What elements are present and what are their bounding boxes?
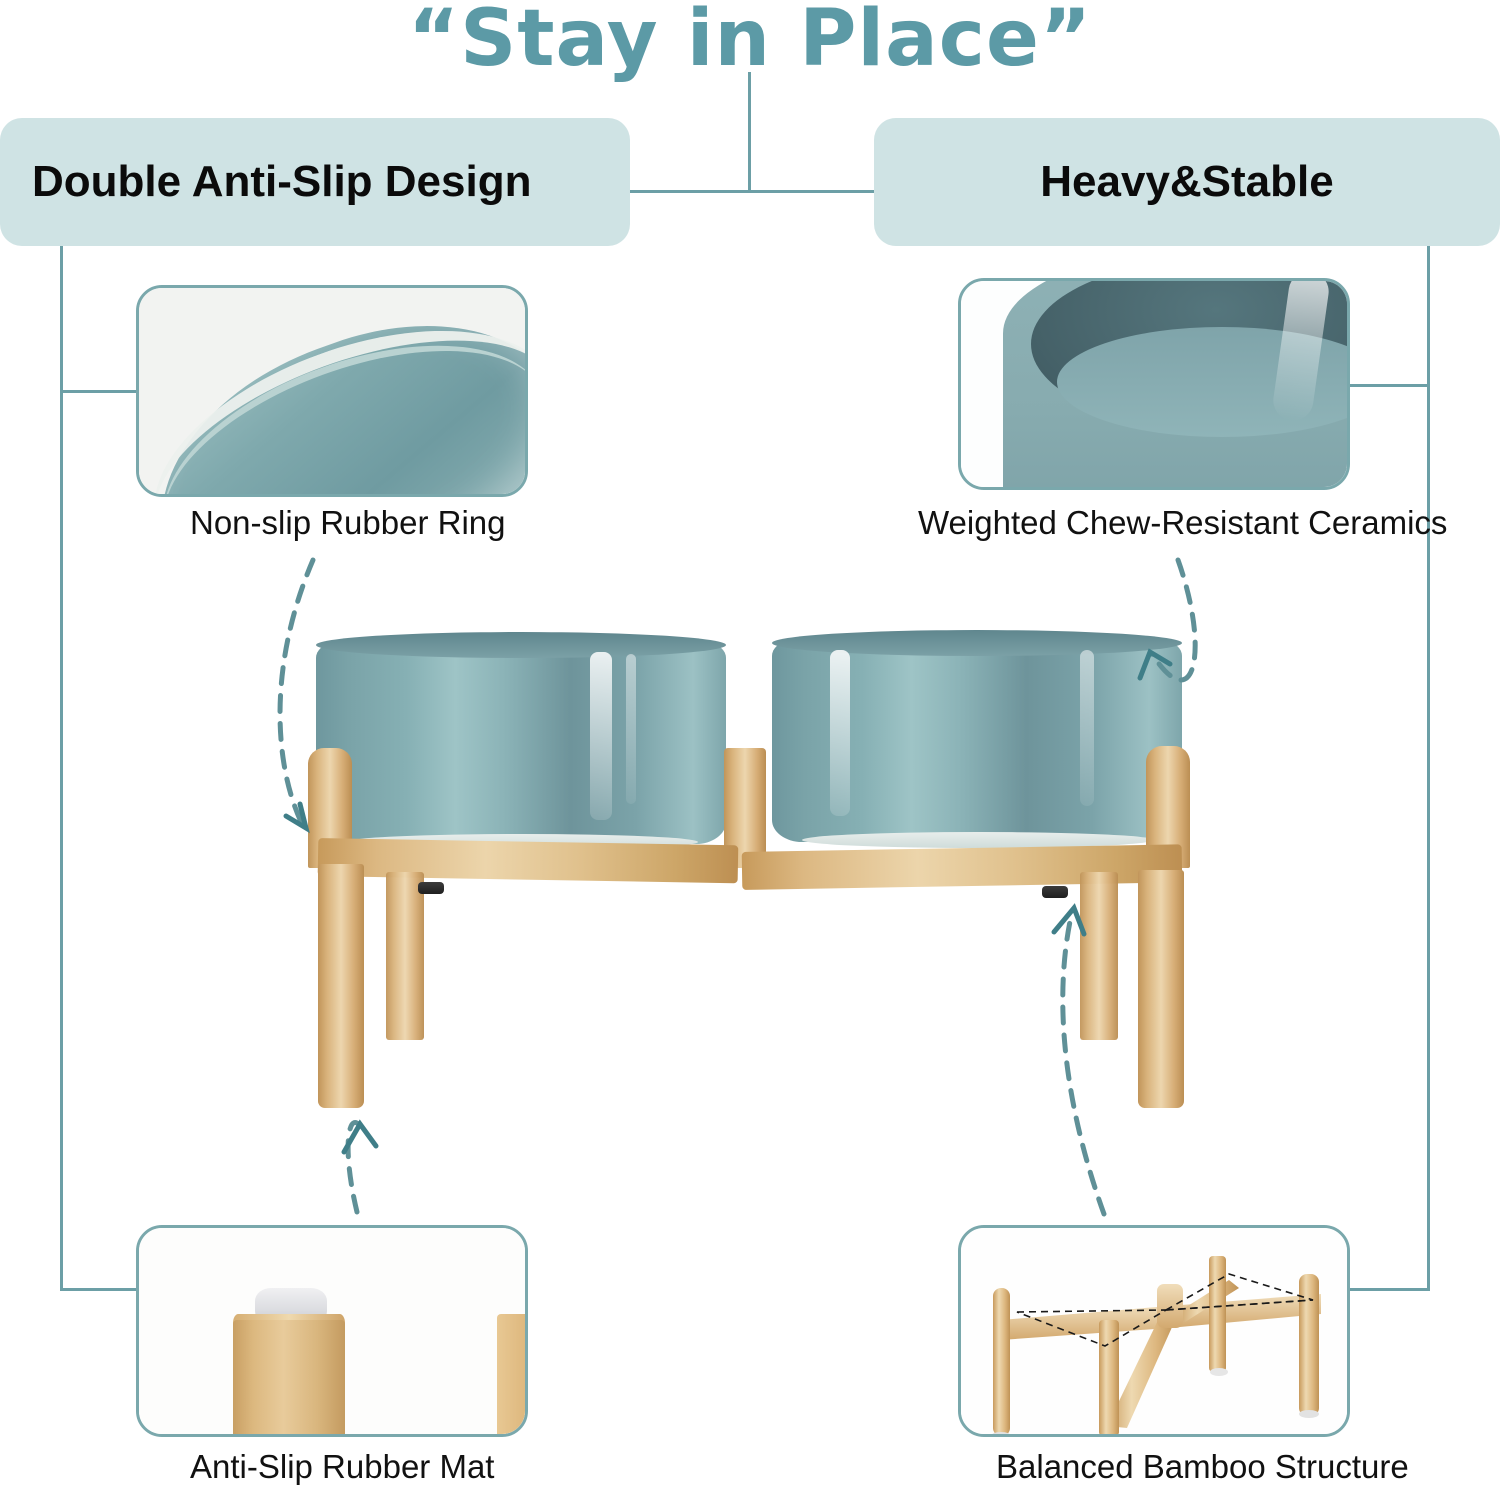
- connector-left-spine: [60, 246, 63, 1290]
- connector-right-bottom-branch: [1345, 1288, 1430, 1291]
- hero-product-image: [290, 620, 1210, 1160]
- hero-bowl-right-gloss-2: [1080, 650, 1094, 806]
- connector-left-bottom-branch: [60, 1288, 142, 1291]
- stand-leg-front-left: [318, 864, 364, 1108]
- hero-bowl-left-gloss: [590, 652, 612, 820]
- hero-bowl-left-gloss-2: [626, 654, 636, 804]
- stand-leg-back-right: [1080, 872, 1118, 1040]
- header-pill-left-label: Double Anti-Slip Design: [32, 157, 531, 207]
- feature-image-weighted-ceramics: [958, 278, 1350, 490]
- stand-fitting-left: [418, 882, 444, 894]
- header-pill-heavy-stable[interactable]: Heavy&Stable: [874, 118, 1500, 246]
- bamboo-frame-diagram: [961, 1228, 1350, 1437]
- connector-right-spine: [1427, 246, 1430, 1290]
- connector-top-bridge: [620, 190, 878, 193]
- stand-leg-back-left: [386, 872, 424, 1040]
- hero-bowl-right-gloss: [830, 650, 850, 816]
- bamboo-leg-body: [233, 1320, 345, 1437]
- hero-bowl-left-rim: [316, 632, 726, 658]
- feature-caption-weighted-ceramics: Weighted Chew-Resistant Ceramics: [918, 504, 1447, 542]
- stand-rail-left: [318, 838, 739, 883]
- connector-right-top-branch: [1345, 384, 1430, 387]
- connector-left-top-branch: [60, 390, 142, 393]
- bowl-underside-photo: [139, 288, 525, 494]
- feature-image-anti-slip-rubber-mat: [136, 1225, 528, 1437]
- header-pill-right-label: Heavy&Stable: [1040, 157, 1333, 207]
- feature-image-balanced-bamboo-structure: [958, 1225, 1350, 1437]
- bowl-interior-photo: [961, 281, 1347, 487]
- bamboo-frame-photo: [961, 1228, 1347, 1434]
- bamboo-background-post: [497, 1314, 528, 1437]
- hero-bowl-left: [316, 644, 726, 844]
- feature-caption-non-slip-rubber-ring: Non-slip Rubber Ring: [190, 504, 505, 542]
- stand-leg-front-right: [1138, 870, 1184, 1108]
- header-pill-double-anti-slip[interactable]: Double Anti-Slip Design: [0, 118, 630, 246]
- feature-caption-balanced-bamboo-structure: Balanced Bamboo Structure: [996, 1448, 1409, 1486]
- feature-caption-anti-slip-rubber-mat: Anti-Slip Rubber Mat: [190, 1448, 494, 1486]
- stand-fitting-right: [1042, 886, 1068, 898]
- feature-image-non-slip-rubber-ring: [136, 285, 528, 497]
- bamboo-leg-photo: [139, 1228, 525, 1434]
- connector-title-stem: [748, 72, 751, 192]
